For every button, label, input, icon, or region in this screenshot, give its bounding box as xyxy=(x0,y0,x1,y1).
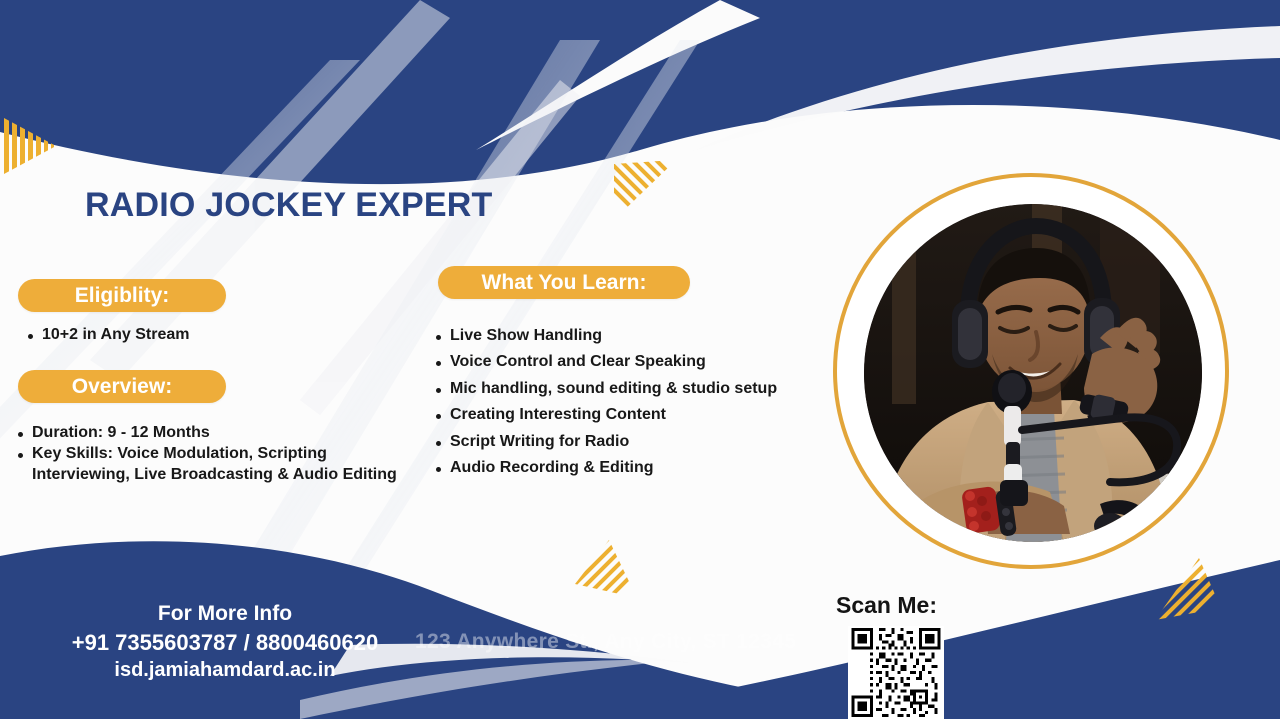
contact-website[interactable]: isd.jamiahamdard.ac.in xyxy=(55,657,395,684)
list-item: Creating Interesting Content xyxy=(430,405,830,425)
list-item: Key Skills: Voice Modulation, Scripting … xyxy=(12,444,412,485)
contact-heading: For More Info xyxy=(55,600,395,628)
striped-triangle-icon-right xyxy=(1155,558,1225,624)
list-item: Live Show Handling xyxy=(430,326,830,346)
list-item: 10+2 in Any Stream xyxy=(22,325,382,345)
qr-code-icon xyxy=(850,628,942,717)
list-item: Duration: 9 - 12 Months xyxy=(12,423,412,443)
list-item: Mic handling, sound editing & studio set… xyxy=(430,379,830,399)
contact-block: For More Info +91 7355603787 / 880046062… xyxy=(55,600,395,684)
learn-list: Live Show Handling Voice Control and Cle… xyxy=(430,326,830,485)
overview-heading: Overview: xyxy=(18,370,226,403)
striped-triangle-icon-top-left xyxy=(4,118,64,176)
striped-triangle-icon-center-bottom xyxy=(575,540,639,602)
qr-code[interactable] xyxy=(848,626,944,719)
contact-phone: +91 7355603787 / 8800460620 xyxy=(55,628,395,657)
striped-triangle-icon-center-top xyxy=(614,160,678,222)
overview-list: Duration: 9 - 12 Months Key Skills: Voic… xyxy=(12,423,412,486)
page-title: RADIO JOCKEY EXPERT xyxy=(85,186,492,225)
list-item: Audio Recording & Editing xyxy=(430,458,830,478)
scan-me-label: Scan Me: xyxy=(836,592,937,619)
learn-heading: What You Learn: xyxy=(438,266,690,299)
poster-canvas: RADIO JOCKEY EXPERT Eligiblity: 10+2 in … xyxy=(0,0,1280,719)
eligibility-heading: Eligiblity: xyxy=(18,279,226,312)
photo-illustration xyxy=(864,204,1202,542)
list-item: Script Writing for Radio xyxy=(430,432,830,452)
address-watermark: 123 Anywhere St., Any City, ST 12345 xyxy=(415,630,796,654)
photo-ring-frame xyxy=(833,173,1229,569)
list-item: Voice Control and Clear Speaking xyxy=(430,352,830,372)
eligibility-list: 10+2 in Any Stream xyxy=(22,325,382,347)
radio-jockey-photo xyxy=(864,204,1202,542)
